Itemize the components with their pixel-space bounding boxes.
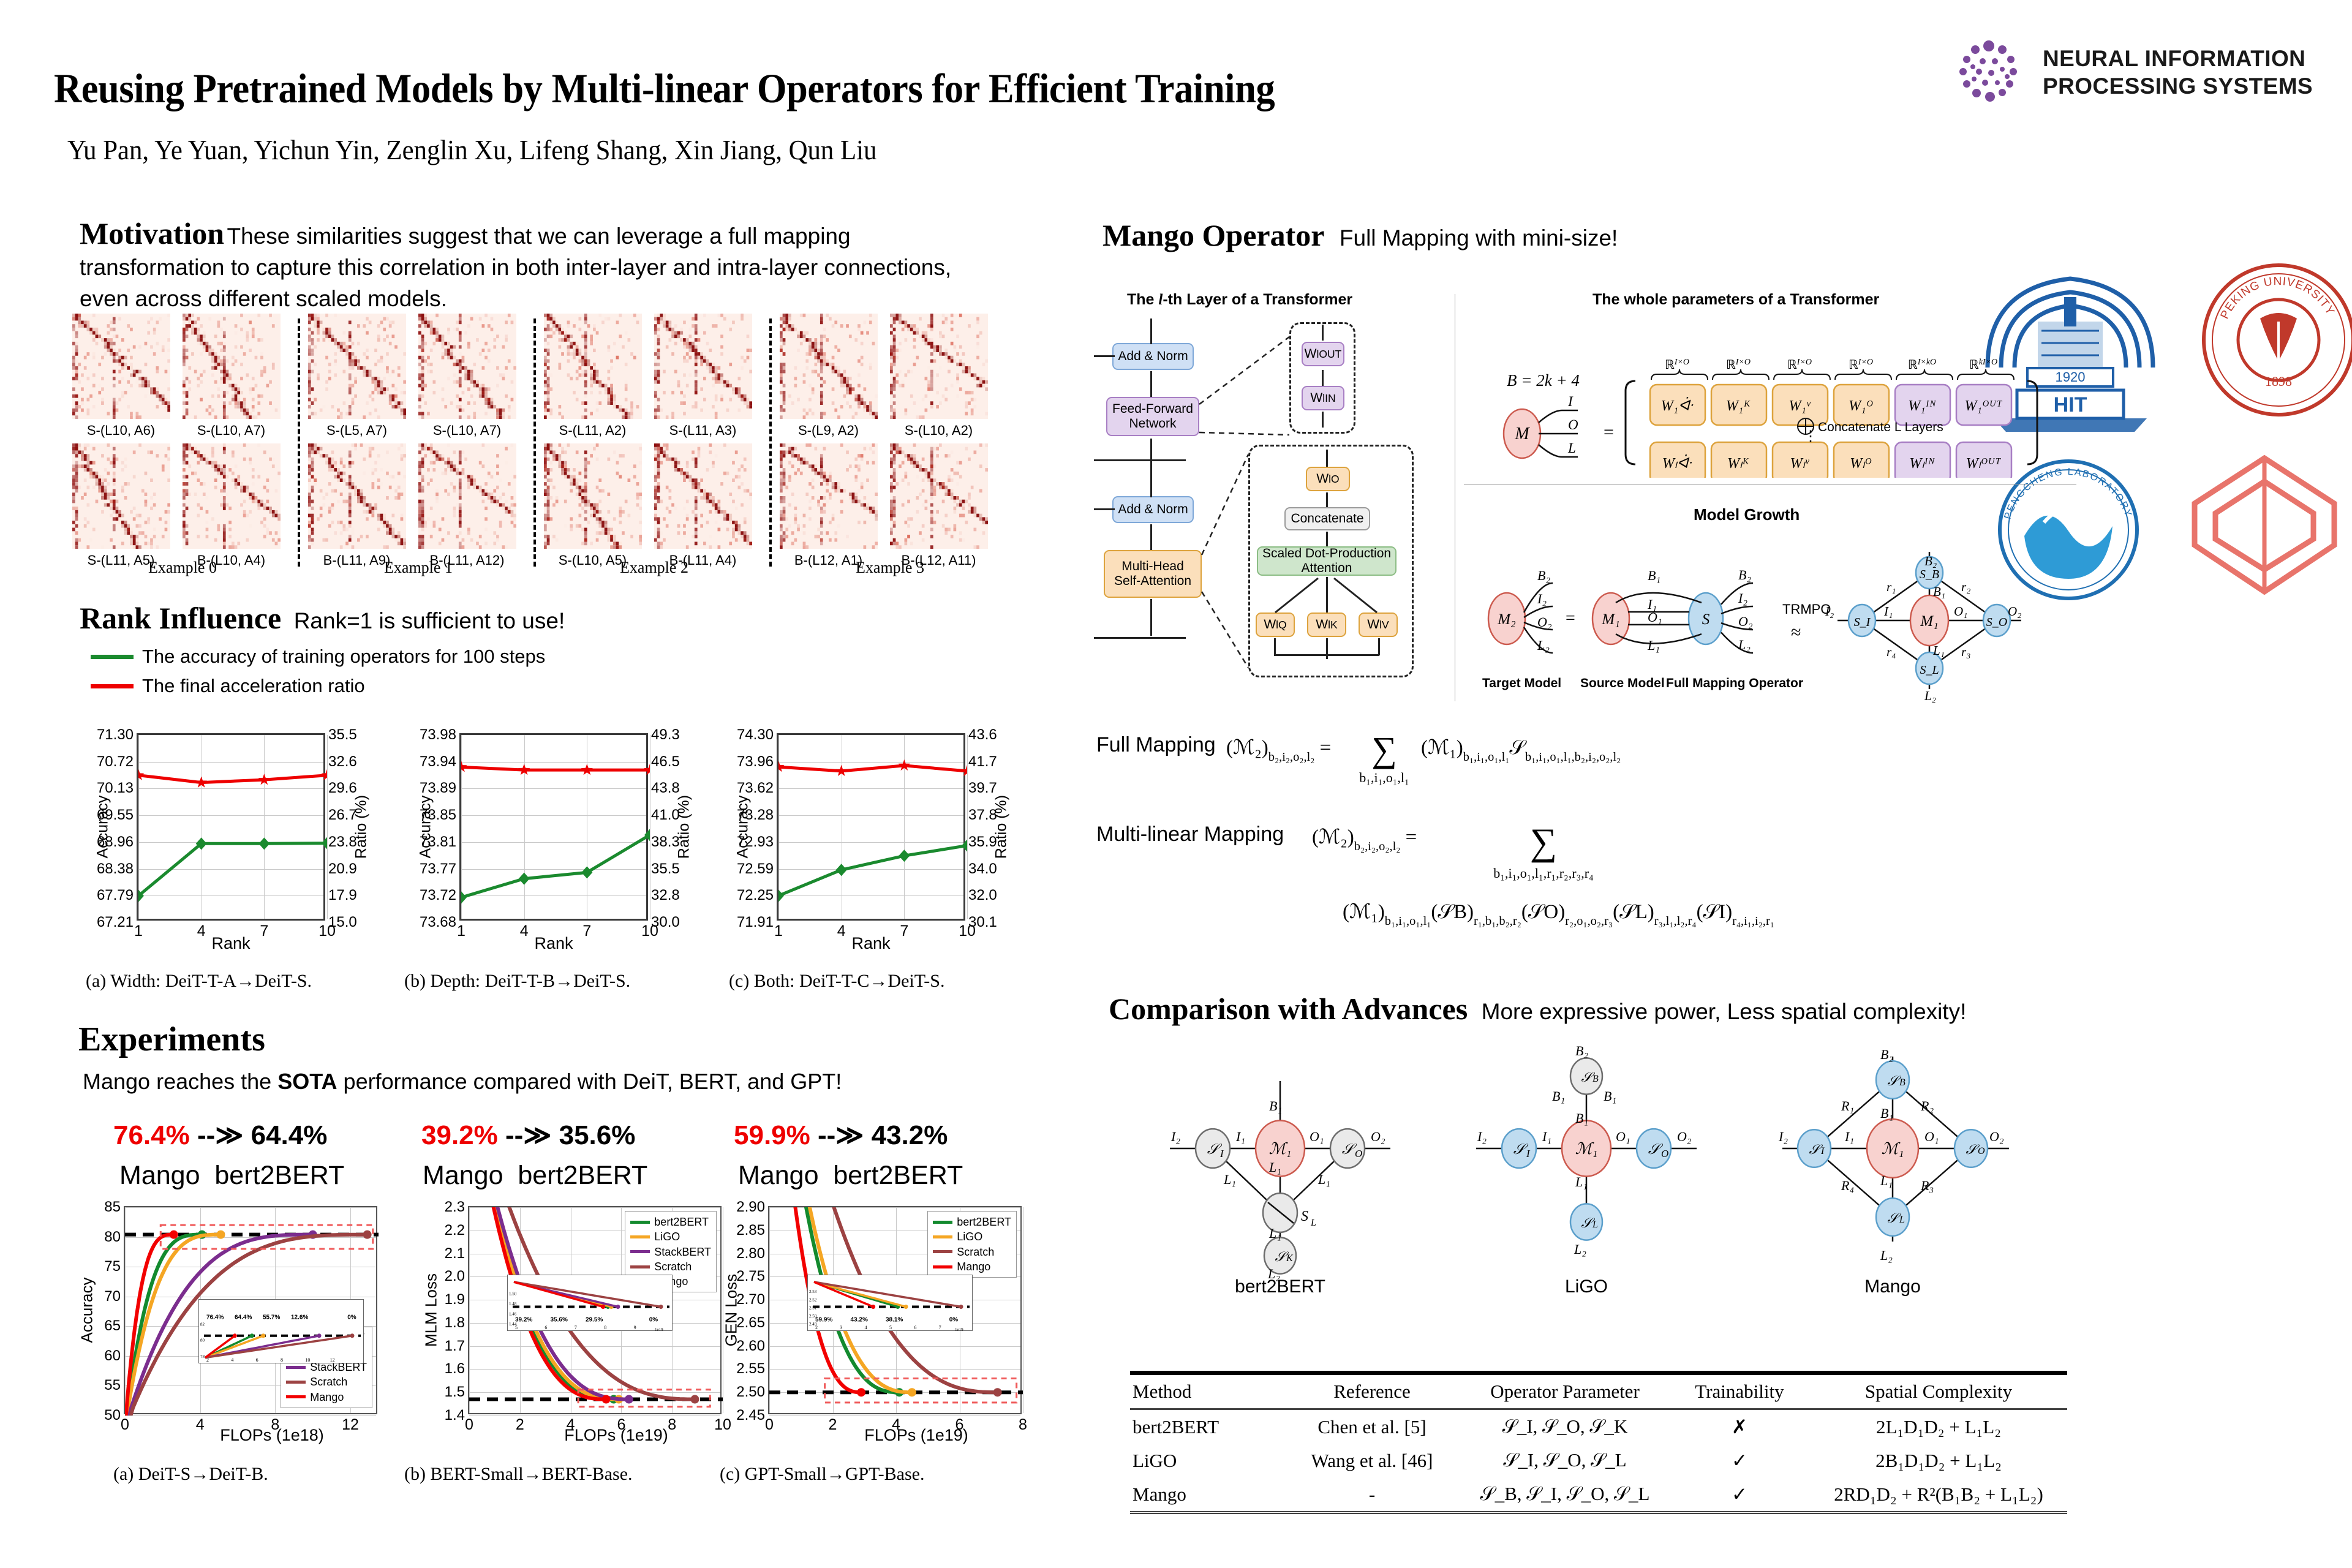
- multilinear-lhs: (ℳ₂)b₂,i₂,o₂,l₂ =: [1312, 826, 1417, 853]
- inset-y-tick: 1.50: [509, 1292, 517, 1297]
- y2-tick-label: 43.6: [968, 726, 997, 744]
- horizontal-divider: [1464, 484, 2076, 484]
- connector: [1150, 439, 1152, 497]
- whole-parameters-diagram: B = 2k + 4MIOL=W₁ᐚWₗᐚℝI×OW₁ᴷWₗᴷℝI×OW₁ᵛWₗ…: [1470, 312, 2070, 478]
- experiments-subtitle-bold: SOTA: [277, 1069, 337, 1094]
- inset-saving-label: 76.4%: [206, 1314, 224, 1321]
- growth-edge-label: I₂: [1738, 590, 1747, 606]
- y-tick-label: 67.21: [97, 914, 134, 931]
- w-k-block: WlK: [1307, 612, 1346, 637]
- tensor-edge-label: L₁: [1268, 1226, 1281, 1241]
- peking-university-logo: 1898 PEKING UNIVERSITY: [2199, 260, 2352, 423]
- heatmap-example-label: Example 1: [308, 559, 529, 577]
- legend-swatch: [630, 1221, 650, 1224]
- connector: [1150, 599, 1152, 636]
- diagram-caption-ligo: LiGO: [1565, 1276, 1608, 1297]
- y-tick-label: 2.0: [445, 1268, 465, 1285]
- attention-heatmap: [890, 314, 988, 419]
- legend-label-accuracy: The accuracy of training operators for 1…: [142, 642, 545, 671]
- tensor-edge-label: I₂: [1170, 1129, 1180, 1144]
- mango-pct-bert: 39.2%: [421, 1120, 498, 1150]
- table-row: bert2BERT Chen et al. [5] 𝒮_I, 𝒮_O, 𝒮_K …: [1130, 1409, 2067, 1444]
- y-tick-label: 70.13: [97, 780, 134, 797]
- inset-x-tick: 9: [634, 1325, 636, 1330]
- model-growth-diagram: M₂B₂I₂O₂L₂=M₁SB₁I₁O₁L₁B₂I₂O₂L₂Target Mod…: [1464, 521, 2076, 704]
- comparison-section: Comparison with Advances More expressive…: [1109, 991, 1966, 1027]
- growth-edge-label: L₂: [1924, 688, 1936, 703]
- heatmap-divider: [769, 318, 772, 567]
- summation-symbol-1: ∑: [1371, 729, 1396, 769]
- growth-edge-label: B₁: [1648, 568, 1660, 583]
- full-mapping-label: Full Mapping: [1096, 733, 1216, 756]
- x-tick-label: 0: [765, 1416, 774, 1434]
- inset-y-tick: 1.48: [509, 1302, 517, 1306]
- col-reference: Reference: [1283, 1373, 1461, 1409]
- gridline: [967, 735, 968, 919]
- svg-text:O: O: [1978, 1146, 1985, 1156]
- connector: [1094, 355, 1115, 357]
- y-tick-label: 2.90: [736, 1199, 765, 1216]
- svg-text:B: B: [1593, 1074, 1599, 1084]
- connector: [1094, 637, 1186, 639]
- x-tick-label: 0: [465, 1416, 473, 1434]
- y2-axis-label: Ratio (%): [353, 795, 371, 859]
- heatmap-label: S-(L10, A2): [885, 423, 992, 439]
- legend-label-ratio: The final acceleration ratio: [142, 671, 365, 701]
- b2b-name-gpt: bert2BERT: [833, 1161, 963, 1190]
- y-tick-label: 72.25: [737, 887, 774, 904]
- arrow-deit: --≫: [190, 1120, 251, 1150]
- inset-saving-label: 0%: [347, 1314, 356, 1321]
- legend-label: Scratch: [957, 1245, 994, 1259]
- weight-block-rowL: Wₗᴼ: [1850, 456, 1871, 472]
- experiments-subtitle-pre: Mango reaches the: [83, 1069, 277, 1094]
- attention-heatmap: [780, 443, 878, 549]
- transformer-layer-title: The l-th Layer of a Transformer: [1127, 291, 1352, 309]
- x-axis-label: FLOPs (1e19): [812, 1426, 1020, 1445]
- connector: [1322, 325, 1324, 341]
- parameter-space-label: ℝI×O: [1787, 358, 1812, 372]
- plot-area: 71.9130.172.2532.072.5934.072.9335.973.2…: [777, 733, 965, 921]
- growth-edge-label: B₂: [1537, 568, 1550, 583]
- tensor-edge-label: B₁: [1575, 1110, 1588, 1126]
- inset-saving-label: 59.9%: [815, 1316, 832, 1323]
- legend-row: Scratch: [933, 1245, 1011, 1259]
- growth-edge-label: B₂: [1738, 567, 1751, 582]
- node-leg: O: [1568, 417, 1578, 432]
- neurips-brain-icon: [1951, 34, 2043, 110]
- growth-caption: Target Model: [1482, 676, 1561, 690]
- b2b-name-deit: bert2BERT: [214, 1161, 344, 1190]
- node-M1-mango: ℳ₁: [1882, 1140, 1904, 1158]
- gridline: [1023, 1207, 1023, 1413]
- cell-complexity: 2L₁D₁D₂ + L₁L₂: [1810, 1409, 2067, 1444]
- y-axis-label: MLM Loss: [422, 1273, 441, 1347]
- inset-y-tick: 2.50: [809, 1314, 817, 1319]
- feed-forward-block: Feed-ForwardNetwork: [1106, 397, 1199, 436]
- legend-row: bert2BERT: [933, 1215, 1011, 1229]
- inset-saving-label: 43.2%: [851, 1316, 868, 1323]
- heatmap-label: S-(L11, A2): [539, 423, 646, 439]
- attention-heatmap: [544, 314, 642, 419]
- legend-swatch: [933, 1221, 952, 1224]
- inset-saving-label: 12.6%: [291, 1314, 308, 1321]
- inset-x-tick: 4: [865, 1325, 867, 1330]
- y2-tick-label: 32.0: [968, 887, 997, 904]
- inset-x-tick: 6: [545, 1325, 547, 1330]
- cell-method: bert2BERT: [1130, 1409, 1283, 1444]
- tensor-edge-label: L₁: [1268, 1159, 1281, 1175]
- y-axis-label: Accuracy: [78, 1278, 97, 1343]
- tensor-edge-label: B₂: [1575, 1043, 1588, 1058]
- heatmap-label: S-(L5, A7): [303, 423, 410, 439]
- tensor-edge-label: R₄: [1841, 1178, 1854, 1193]
- neurips-line-1: NEURAL INFORMATION: [2043, 45, 2313, 72]
- plot-area: 1.41.51.61.71.81.92.02.12.22.30246810ber…: [468, 1206, 722, 1414]
- experiment-chart-deit: 505560657075808504812bert2BERTLiGOStackB…: [67, 1197, 386, 1455]
- tensor-edge-label: B₁: [1604, 1088, 1616, 1104]
- node-M2: M₂: [1497, 611, 1516, 628]
- node-M1-b2b: ℳ₁: [1269, 1140, 1292, 1158]
- heatmap-label: S-(L11, A3): [649, 423, 756, 439]
- inset-unit: 1e19: [655, 1327, 663, 1332]
- add-norm-block-bottom: Add & Norm: [1112, 496, 1194, 523]
- weight-block-rowL: Wₗᴵᴺ: [1909, 456, 1935, 472]
- legend-label: Scratch: [654, 1259, 692, 1274]
- growth-edge-label: I₂: [1825, 604, 1834, 619]
- heatmap-group: S-(L10, A6)S-(L10, A7)S-(L11, A5)B-(L10,…: [72, 314, 293, 577]
- heatmap-example-label: Example 3: [780, 559, 1000, 577]
- equals-sign-growth: =: [1566, 609, 1575, 628]
- tensor-edge-label: R₃: [1920, 1178, 1934, 1193]
- connector: [1326, 532, 1328, 546]
- node-leg: I: [1567, 394, 1574, 409]
- rank-caption-c: (c) Both: DeiT-T-C→DeiT-S.: [729, 971, 945, 992]
- experiment-caption-gpt: (c) GPT-Small→GPT-Base.: [720, 1464, 924, 1485]
- legend-swatch: [630, 1250, 650, 1253]
- attention-heatmap: [544, 443, 642, 549]
- plot-area: 2.452.502.552.602.652.702.752.802.852.90…: [768, 1206, 1022, 1414]
- cell-trainability: ✗: [1669, 1409, 1810, 1444]
- result-headline-gpt: 59.9% --≫ 43.2%: [734, 1120, 948, 1151]
- full-mapping-rhs: (ℳ₁)b₁,i₁,o₁,l₁𝒮b₁,i₁,o₁,l₁,b₂,i₂,o₂,l₂: [1421, 737, 1621, 764]
- growth-edge-label: B₁: [1933, 584, 1945, 599]
- rank-chart-width: 67.2115.067.7917.968.3820.968.9623.869.5…: [72, 720, 382, 959]
- gridline: [327, 735, 328, 919]
- rank-chart-both: 71.9130.172.2532.072.5934.072.9335.973.2…: [712, 720, 1022, 959]
- equals-sign: =: [1604, 422, 1614, 442]
- y-tick-label: 2.3: [445, 1199, 465, 1216]
- inset-y-tick: 78: [200, 1354, 205, 1359]
- weight-block-row1: W₁ᐚ: [1661, 397, 1694, 414]
- w-in-block: WlIN: [1302, 386, 1344, 410]
- multilinear-label: Multi-linear Mapping: [1096, 823, 1284, 846]
- y-tick-label: 50: [104, 1407, 121, 1424]
- svg-text:K: K: [1286, 1253, 1294, 1264]
- page-title: Reusing Pretrained Models by Multi-linea…: [54, 64, 1275, 113]
- tensor-edge-label: B₁: [1552, 1088, 1565, 1104]
- connector: [1378, 638, 1380, 655]
- y-tick-label: 2.85: [736, 1222, 765, 1239]
- y-tick-label: 73.98: [420, 726, 456, 744]
- legend-label: LiGO: [957, 1229, 982, 1244]
- tensor-edge-label: L₁: [1575, 1174, 1588, 1189]
- y-tick-label: 70.72: [97, 753, 134, 771]
- col-operator: Operator Parameter: [1461, 1373, 1669, 1409]
- inset-y-tick: 82: [200, 1322, 205, 1327]
- y-tick-label: 1.4: [445, 1407, 465, 1424]
- inset-x-tick: 8: [281, 1357, 283, 1363]
- heatmap-label: S-(L10, A7): [178, 423, 285, 439]
- full-mapping-lhs: (ℳ₂)b₂,i₂,o₂,l₂ =: [1226, 737, 1331, 764]
- svg-text:L: L: [1310, 1218, 1316, 1228]
- legend-label: Mango: [957, 1259, 990, 1274]
- tensor-edge-label: B₁: [1880, 1106, 1893, 1121]
- chart-legend: bert2BERTLiGOScratchMango: [927, 1211, 1017, 1278]
- parameter-space-label: ℝkI×O: [1969, 358, 1997, 372]
- weight-block-row1: W₁ᴵᴺ: [1908, 398, 1937, 414]
- rank-influence-heading: Rank Influence: [80, 600, 281, 636]
- multilinear-rhs: (ℳ₁)b₁,i₁,o₁,l₁(𝒮B)r₁,b₁,b₂,r₂(𝒮O)r₂,o₁,…: [1343, 901, 1774, 928]
- heatmap-example-label: Example 0: [72, 559, 293, 577]
- diagram-caption-bert2bert: bert2BERT: [1235, 1276, 1325, 1297]
- connector: [1322, 370, 1324, 386]
- tensor-edge-label: L₁: [1317, 1172, 1330, 1187]
- growth-edge-label: O₂: [1738, 614, 1753, 629]
- w-v-block: WlV: [1359, 612, 1398, 637]
- y-tick-label: 73.94: [420, 753, 456, 771]
- inset-saving-label: 39.2%: [515, 1316, 532, 1323]
- comparison-tensor-diagrams: ℳ₁𝒮I𝒮OSL𝒮KB₁I₂I₁O₁O₂L₁L₁L₁L₁L₂bert2BERTℳ…: [1102, 1035, 2082, 1329]
- rank-influence-section: Rank Influence Rank=1 is sufficient to u…: [80, 600, 565, 636]
- attention-heatmap: [72, 443, 170, 549]
- x-tick-label: 0: [121, 1416, 129, 1434]
- y-tick-label: 67.79: [97, 887, 134, 904]
- y2-tick-label: 35.5: [651, 861, 680, 878]
- svg-text:O: O: [1661, 1148, 1668, 1159]
- rank-legend: The accuracy of training operators for 1…: [91, 642, 545, 701]
- y-tick-label: 73.62: [737, 780, 774, 797]
- b2b-name-bert: bert2BERT: [518, 1161, 647, 1190]
- chart-inset: 76.4%64.4%55.7%12.6%0%24681012788082: [198, 1299, 364, 1363]
- col-trainability: Trainability: [1669, 1373, 1810, 1409]
- tensor-edge-label: I₁: [1844, 1129, 1854, 1144]
- attention-heatmap: [183, 443, 281, 549]
- node-M1-ligo: ℳ₁: [1575, 1140, 1598, 1158]
- y-axis-label: Accuracy: [734, 796, 752, 859]
- y-tick-label: 74.30: [737, 726, 774, 744]
- inset-unit: 1e19: [955, 1327, 963, 1332]
- legend-row: LiGO: [630, 1229, 711, 1244]
- gridline: [469, 1415, 720, 1416]
- mango-name-deit: Mango: [119, 1161, 200, 1190]
- y-tick-label: 2.80: [736, 1245, 765, 1262]
- y-tick-label: 70: [104, 1288, 121, 1305]
- node-S: S: [1702, 611, 1710, 628]
- tensor-edge-label: L₂: [1880, 1248, 1893, 1263]
- pku-year-text: 1898: [2265, 374, 2292, 389]
- y2-tick-label: 41.7: [968, 753, 997, 771]
- cell-operator: 𝒮_I, 𝒮_O, 𝒮_K: [1461, 1409, 1669, 1444]
- w-o-block: WlO: [1306, 467, 1350, 491]
- attention-heatmap: [780, 314, 878, 419]
- inset-saving-label: 29.5%: [586, 1316, 603, 1323]
- legend-swatch: [286, 1381, 306, 1384]
- col-complexity: Spatial Complexity: [1810, 1373, 2067, 1409]
- tensor-edge-label: L₂: [1574, 1242, 1586, 1257]
- connector: [1326, 492, 1328, 507]
- y-tick-label: 71.30: [97, 726, 134, 744]
- y-tick-label: 2.45: [736, 1407, 765, 1424]
- legend-row: Scratch: [286, 1374, 367, 1389]
- legend-label: LiGO: [654, 1229, 680, 1244]
- y-tick-label: 68.38: [97, 861, 134, 878]
- svg-text:S: S: [1301, 1208, 1308, 1224]
- node-SB: S_B: [1920, 568, 1939, 581]
- growth-edge-label: L₁: [1932, 643, 1945, 658]
- y-tick-label: 65: [104, 1317, 121, 1335]
- inset-x-tick: 6: [914, 1325, 916, 1330]
- x-axis-label: Rank: [138, 934, 323, 953]
- legend-swatch: [630, 1235, 650, 1238]
- y-tick-label: 73.77: [420, 861, 456, 878]
- col-method: Method: [1130, 1373, 1283, 1409]
- cell-reference: Chen et al. [5]: [1283, 1409, 1461, 1444]
- y-tick-label: 85: [104, 1199, 121, 1216]
- legend-swatch: [286, 1395, 306, 1398]
- heatmap-group: S-(L9, A2)S-(L10, A2)B-(L12, A1)B-(L12, …: [780, 314, 1000, 577]
- experiment-caption-bert: (b) BERT-Small→BERT-Base.: [404, 1464, 633, 1485]
- mango-operator-heading: Mango Operator: [1102, 217, 1324, 253]
- connector: [1326, 450, 1328, 467]
- inset-y-tick: 2.49: [809, 1322, 817, 1327]
- x-axis-label: FLOPs (1e19): [512, 1426, 720, 1445]
- legend-swatch: [933, 1265, 952, 1268]
- heatmap-label: S-(L10, A7): [413, 423, 521, 439]
- equations-area: Full Mapping(ℳ₂)b₂,i₂,o₂,l₂ =∑b₁,i₁,o₁,l…: [1096, 726, 2089, 971]
- rank-influence-subtitle: Rank=1 is sufficient to use!: [294, 608, 565, 634]
- inset-y-tick: 2.51: [809, 1306, 817, 1311]
- y-tick-label: 1.7: [445, 1338, 465, 1355]
- inset-x-tick: 12: [330, 1357, 335, 1363]
- weight-block-row1: W₁ᴼ: [1849, 398, 1873, 414]
- y2-tick-label: 46.5: [651, 753, 680, 771]
- inset-x-tick: 2: [206, 1357, 209, 1363]
- y-tick-label: 1.6: [445, 1360, 465, 1378]
- cell-operator: 𝒮_B, 𝒮_I, 𝒮_O, 𝒮_L: [1461, 1477, 1669, 1513]
- y-tick-label: 73.72: [420, 887, 456, 904]
- gridline: [125, 1415, 376, 1416]
- experiment-caption-deit: (a) DeiT-S→DeiT-B.: [113, 1464, 268, 1485]
- y-tick-label: 2.50: [736, 1384, 765, 1401]
- y-tick-label: 2.2: [445, 1222, 465, 1239]
- y2-tick-label: 20.9: [328, 861, 357, 878]
- heatmap-label: S-(L9, A2): [775, 423, 882, 439]
- growth-edge-label: r₁: [1887, 579, 1896, 594]
- experiments-subtitle-post: performance compared with DeiT, BERT, an…: [337, 1069, 842, 1094]
- growth-edge-label: O₂: [2008, 604, 2021, 619]
- connector: [1094, 459, 1186, 461]
- y-tick-label: 80: [104, 1229, 121, 1246]
- node-M1: M₁: [1601, 611, 1620, 628]
- legend-swatch: [933, 1250, 952, 1253]
- plot-area: 73.6830.073.7232.873.7735.573.8138.373.8…: [459, 733, 648, 921]
- weight-block-rowL: Wₗᵛ: [1790, 456, 1810, 472]
- growth-edge-label: I₁: [1883, 604, 1893, 619]
- cell-reference: -: [1283, 1477, 1461, 1513]
- method-names-bert: Mango bert2BERT: [423, 1161, 647, 1191]
- growth-edge-label: L₂: [1738, 637, 1751, 652]
- y2-tick-label: 32.8: [651, 887, 680, 904]
- experiments-heading: Experiments: [78, 1020, 265, 1059]
- growth-caption: Source Model: [1580, 676, 1665, 690]
- b2b-pct-deit: 64.4%: [251, 1120, 328, 1150]
- tensor-edge-label: I₁: [1235, 1129, 1245, 1144]
- b2b-pct-gpt: 43.2%: [872, 1120, 948, 1150]
- y-axis-label: Accuracy: [94, 796, 112, 859]
- cell-operator: 𝒮_I, 𝒮_O, 𝒮_L: [1461, 1444, 1669, 1477]
- y2-axis-label: Ratio (%): [993, 795, 1011, 859]
- y-tick-label: 2.1: [445, 1245, 465, 1262]
- inset-saving-label: 64.4%: [235, 1314, 252, 1321]
- svg-text:L: L: [1592, 1219, 1598, 1230]
- growth-edge-label: r₄: [1887, 644, 1896, 659]
- author-list: Yu Pan, Ye Yuan, Yichun Yin, Zenglin Xu,…: [67, 134, 876, 166]
- y2-tick-label: 32.6: [328, 753, 357, 771]
- method-names-deit: Mango bert2BERT: [119, 1161, 344, 1191]
- attention-heatmap: [890, 443, 988, 549]
- whole-parameters-title: The whole parameters of a Transformer: [1593, 291, 1879, 309]
- experiments-subtitle: Mango reaches the SOTA performance compa…: [83, 1069, 842, 1095]
- node-SI: S_I: [1854, 616, 1871, 629]
- legend-label: Mango: [310, 1390, 344, 1404]
- node-SL: S_L: [1920, 663, 1939, 677]
- method-names-gpt: Mango bert2BERT: [738, 1161, 963, 1191]
- tensor-edge-label: B₁: [1269, 1098, 1282, 1114]
- inset-saving-label: 0%: [949, 1316, 959, 1323]
- weight-block-row1: W₁ᴼᵁᵀ: [1965, 398, 2003, 414]
- y2-tick-label: 34.0: [968, 861, 997, 878]
- legend-label: StackBERT: [654, 1245, 711, 1259]
- node-M: M: [1514, 424, 1530, 443]
- tensor-edge-label: R₂: [1920, 1098, 1934, 1114]
- tensor-edge-label: O₁: [1616, 1129, 1630, 1144]
- cell-complexity: 2RD₁D₂ + R²(B₁B₂ + L₁L₂): [1810, 1477, 2067, 1513]
- trmpo-label: TRMPO: [1782, 601, 1831, 617]
- growth-edge-label: L₁: [1647, 638, 1660, 653]
- cell-method: LiGO: [1130, 1444, 1283, 1477]
- legend-label: Scratch: [310, 1374, 347, 1389]
- motivation-heading: Motivation: [80, 216, 224, 251]
- svg-text:I: I: [1820, 1146, 1825, 1156]
- parameter-space-label: ℝI×O: [1726, 358, 1751, 372]
- tensor-edge-label: O₂: [1989, 1129, 2004, 1144]
- growth-edge-label: O₂: [1537, 614, 1552, 630]
- heatmap-example-label: Example 2: [544, 559, 764, 577]
- tensor-edge-label: I₂: [1477, 1129, 1487, 1144]
- growth-caption: Full Mapping Operator: [1666, 676, 1803, 690]
- mango-name-bert: Mango: [423, 1161, 503, 1190]
- add-norm-block-top: Add & Norm: [1112, 343, 1194, 370]
- y-tick-label: 71.91: [737, 914, 774, 931]
- w-out-block: WlOUT: [1302, 342, 1344, 366]
- transformer-architecture-diagram: Add & NormFeed-ForwardNetworkAdd & NormM…: [1090, 312, 1458, 698]
- x-axis-label: Rank: [461, 934, 646, 953]
- tensor-edge-label: O₂: [1677, 1129, 1692, 1144]
- tensor-edge-label: O₁: [1310, 1129, 1324, 1144]
- attention-heatmap: [308, 314, 406, 419]
- y-tick-label: 75: [104, 1258, 121, 1275]
